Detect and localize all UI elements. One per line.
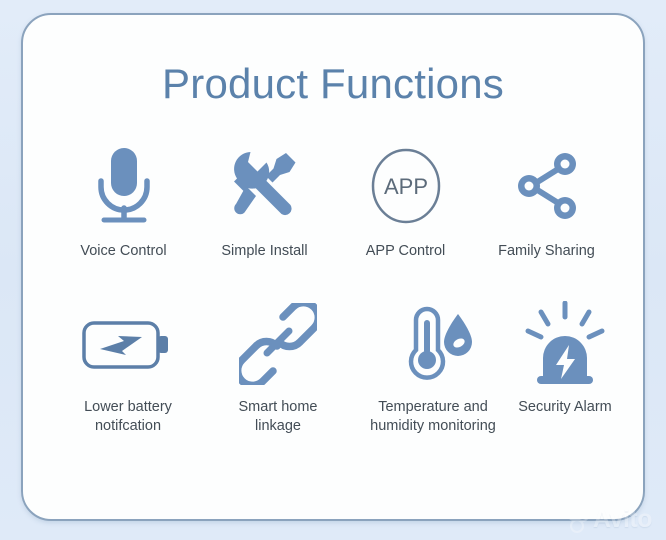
feature-item-voice-control[interactable]: Voice Control bbox=[53, 140, 194, 300]
page-title: Product Functions bbox=[23, 60, 643, 108]
feature-label: Simple Install bbox=[221, 242, 307, 261]
app-circle-icon: APP bbox=[366, 140, 446, 232]
feature-item-family-sharing[interactable]: Family Sharing bbox=[476, 140, 617, 300]
feature-label: APP Control bbox=[366, 242, 446, 261]
features-grid: Voice Control Simple Install bbox=[53, 140, 617, 475]
feature-item-security-alarm[interactable]: Security Alarm bbox=[513, 300, 617, 475]
feature-label: Temperature and humidity monitoring bbox=[353, 398, 513, 436]
poster: Product Functions Voice Control bbox=[0, 0, 666, 540]
feature-label: Family Sharing bbox=[498, 242, 595, 261]
features-row-bottom: Lower battery notifcation Smart home lin… bbox=[53, 300, 617, 475]
feature-item-smart-home-linkage[interactable]: Smart home linkage bbox=[203, 300, 353, 475]
feature-item-temp-humidity[interactable]: Temperature and humidity monitoring bbox=[353, 300, 513, 475]
feature-label: Security Alarm bbox=[518, 398, 611, 417]
share-nodes-icon bbox=[507, 140, 587, 232]
chain-link-icon bbox=[239, 300, 317, 388]
microphone-icon bbox=[86, 140, 162, 232]
feature-label: Smart home linkage bbox=[203, 398, 353, 436]
feature-item-simple-install[interactable]: Simple Install bbox=[194, 140, 335, 300]
feature-label: Lower battery notifcation bbox=[53, 398, 203, 436]
battery-bolt-icon bbox=[80, 300, 176, 388]
thermometer-droplet-icon bbox=[390, 300, 476, 388]
app-icon-text: APP bbox=[383, 174, 427, 199]
feature-label: Voice Control bbox=[80, 242, 166, 261]
wrench-screwdriver-icon bbox=[223, 140, 307, 232]
features-row-top: Voice Control Simple Install bbox=[53, 140, 617, 300]
siren-alarm-icon bbox=[521, 300, 609, 388]
feature-item-lower-battery[interactable]: Lower battery notifcation bbox=[53, 300, 203, 475]
product-functions-card: Product Functions Voice Control bbox=[21, 13, 645, 521]
feature-item-app-control[interactable]: APP APP Control bbox=[335, 140, 476, 300]
